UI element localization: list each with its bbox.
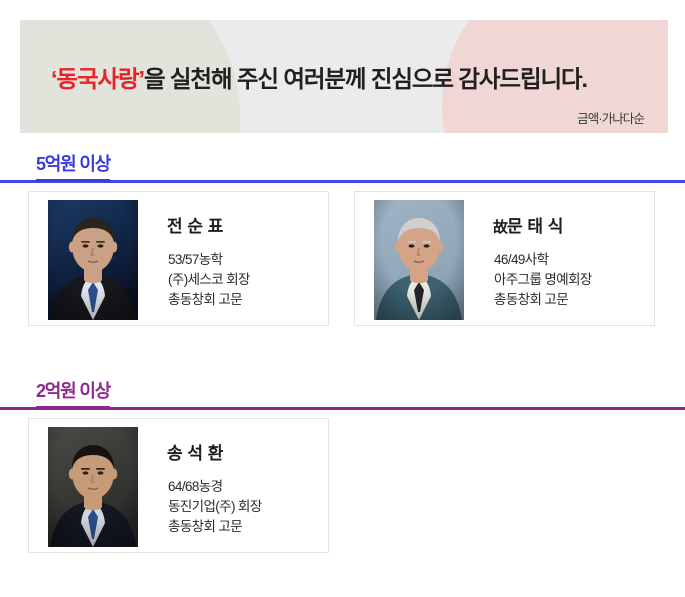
donor-photo [48,427,138,547]
donor-info-line: 총동창회 고문 [494,290,592,310]
donor-info-line: (주)세스코 회장 [168,270,250,290]
donor-name: 故문 태 식 [493,212,563,237]
portrait-image [48,427,138,547]
donor-card[interactable]: 故문 태 식46/49사학아주그룹 명예회장총동창회 고문 [354,191,655,326]
banner-headline: ‘동국사랑’을 실천해 주신 여러분께 진심으로 감사드립니다. [51,60,587,94]
donor-section: 5억원 이상 [0,150,685,327]
donor-name-prefix: 故 [493,219,507,236]
donor-details: 전 순 표53/57농학(주)세스코 회장총동창회 고문 [167,192,322,325]
portrait-image [48,200,138,320]
donor-info-line: 64/68농경 [168,477,262,497]
thank-you-banner: ‘동국사랑’을 실천해 주신 여러분께 진심으로 감사드립니다. 금액·가나다순 [20,20,668,133]
donor-card[interactable]: 전 순 표53/57농학(주)세스코 회장총동창회 고문 [28,191,329,326]
donor-info-lines: 46/49사학아주그룹 명예회장총동창회 고문 [494,250,592,310]
donor-name: 전 순 표 [167,212,223,237]
donor-name-text: 전 순 표 [167,217,223,236]
donor-info-line: 53/57농학 [168,250,250,270]
donor-name-text: 송 석 환 [167,444,223,463]
banner-inner: ‘동국사랑’을 실천해 주신 여러분께 진심으로 감사드립니다. 금액·가나다순 [20,20,668,133]
donor-card-list: 송 석 환64/68농경동진기업(주) 회장총동창회 고문 [0,418,685,554]
portrait-image [374,200,464,320]
donor-info-line: 46/49사학 [494,250,592,270]
donor-card[interactable]: 송 석 환64/68농경동진기업(주) 회장총동창회 고문 [28,418,329,553]
banner-headline-accent: ‘동국사랑’ [51,66,144,92]
donor-photo [374,200,464,320]
donor-section: 2억원 이상 [0,377,685,554]
section-header: 2억원 이상 [0,377,685,418]
banner-headline-rest: 을 실천해 주신 여러분께 진심으로 감사드립니다. [144,66,587,92]
donor-photo [48,200,138,320]
section-title: 2억원 이상 [36,377,110,409]
donor-name-text: 문 태 식 [507,217,563,236]
donor-info-line: 총동창회 고문 [168,517,262,537]
donor-card-list: 전 순 표53/57농학(주)세스코 회장총동창회 고문 [0,191,685,327]
donor-info-line: 아주그룹 명예회장 [494,270,592,290]
section-header: 5억원 이상 [0,150,685,191]
donor-details: 송 석 환64/68농경동진기업(주) 회장총동창회 고문 [167,419,322,552]
donor-info-line: 동진기업(주) 회장 [168,497,262,517]
donor-info-line: 총동창회 고문 [168,290,250,310]
donor-details: 故문 태 식46/49사학아주그룹 명예회장총동창회 고문 [493,192,648,325]
section-title: 5억원 이상 [36,150,110,182]
donor-info-lines: 64/68농경동진기업(주) 회장총동창회 고문 [168,477,262,537]
banner-sort-note: 금액·가나다순 [577,108,644,127]
donor-info-lines: 53/57농학(주)세스코 회장총동창회 고문 [168,250,250,310]
donor-name: 송 석 환 [167,439,223,464]
